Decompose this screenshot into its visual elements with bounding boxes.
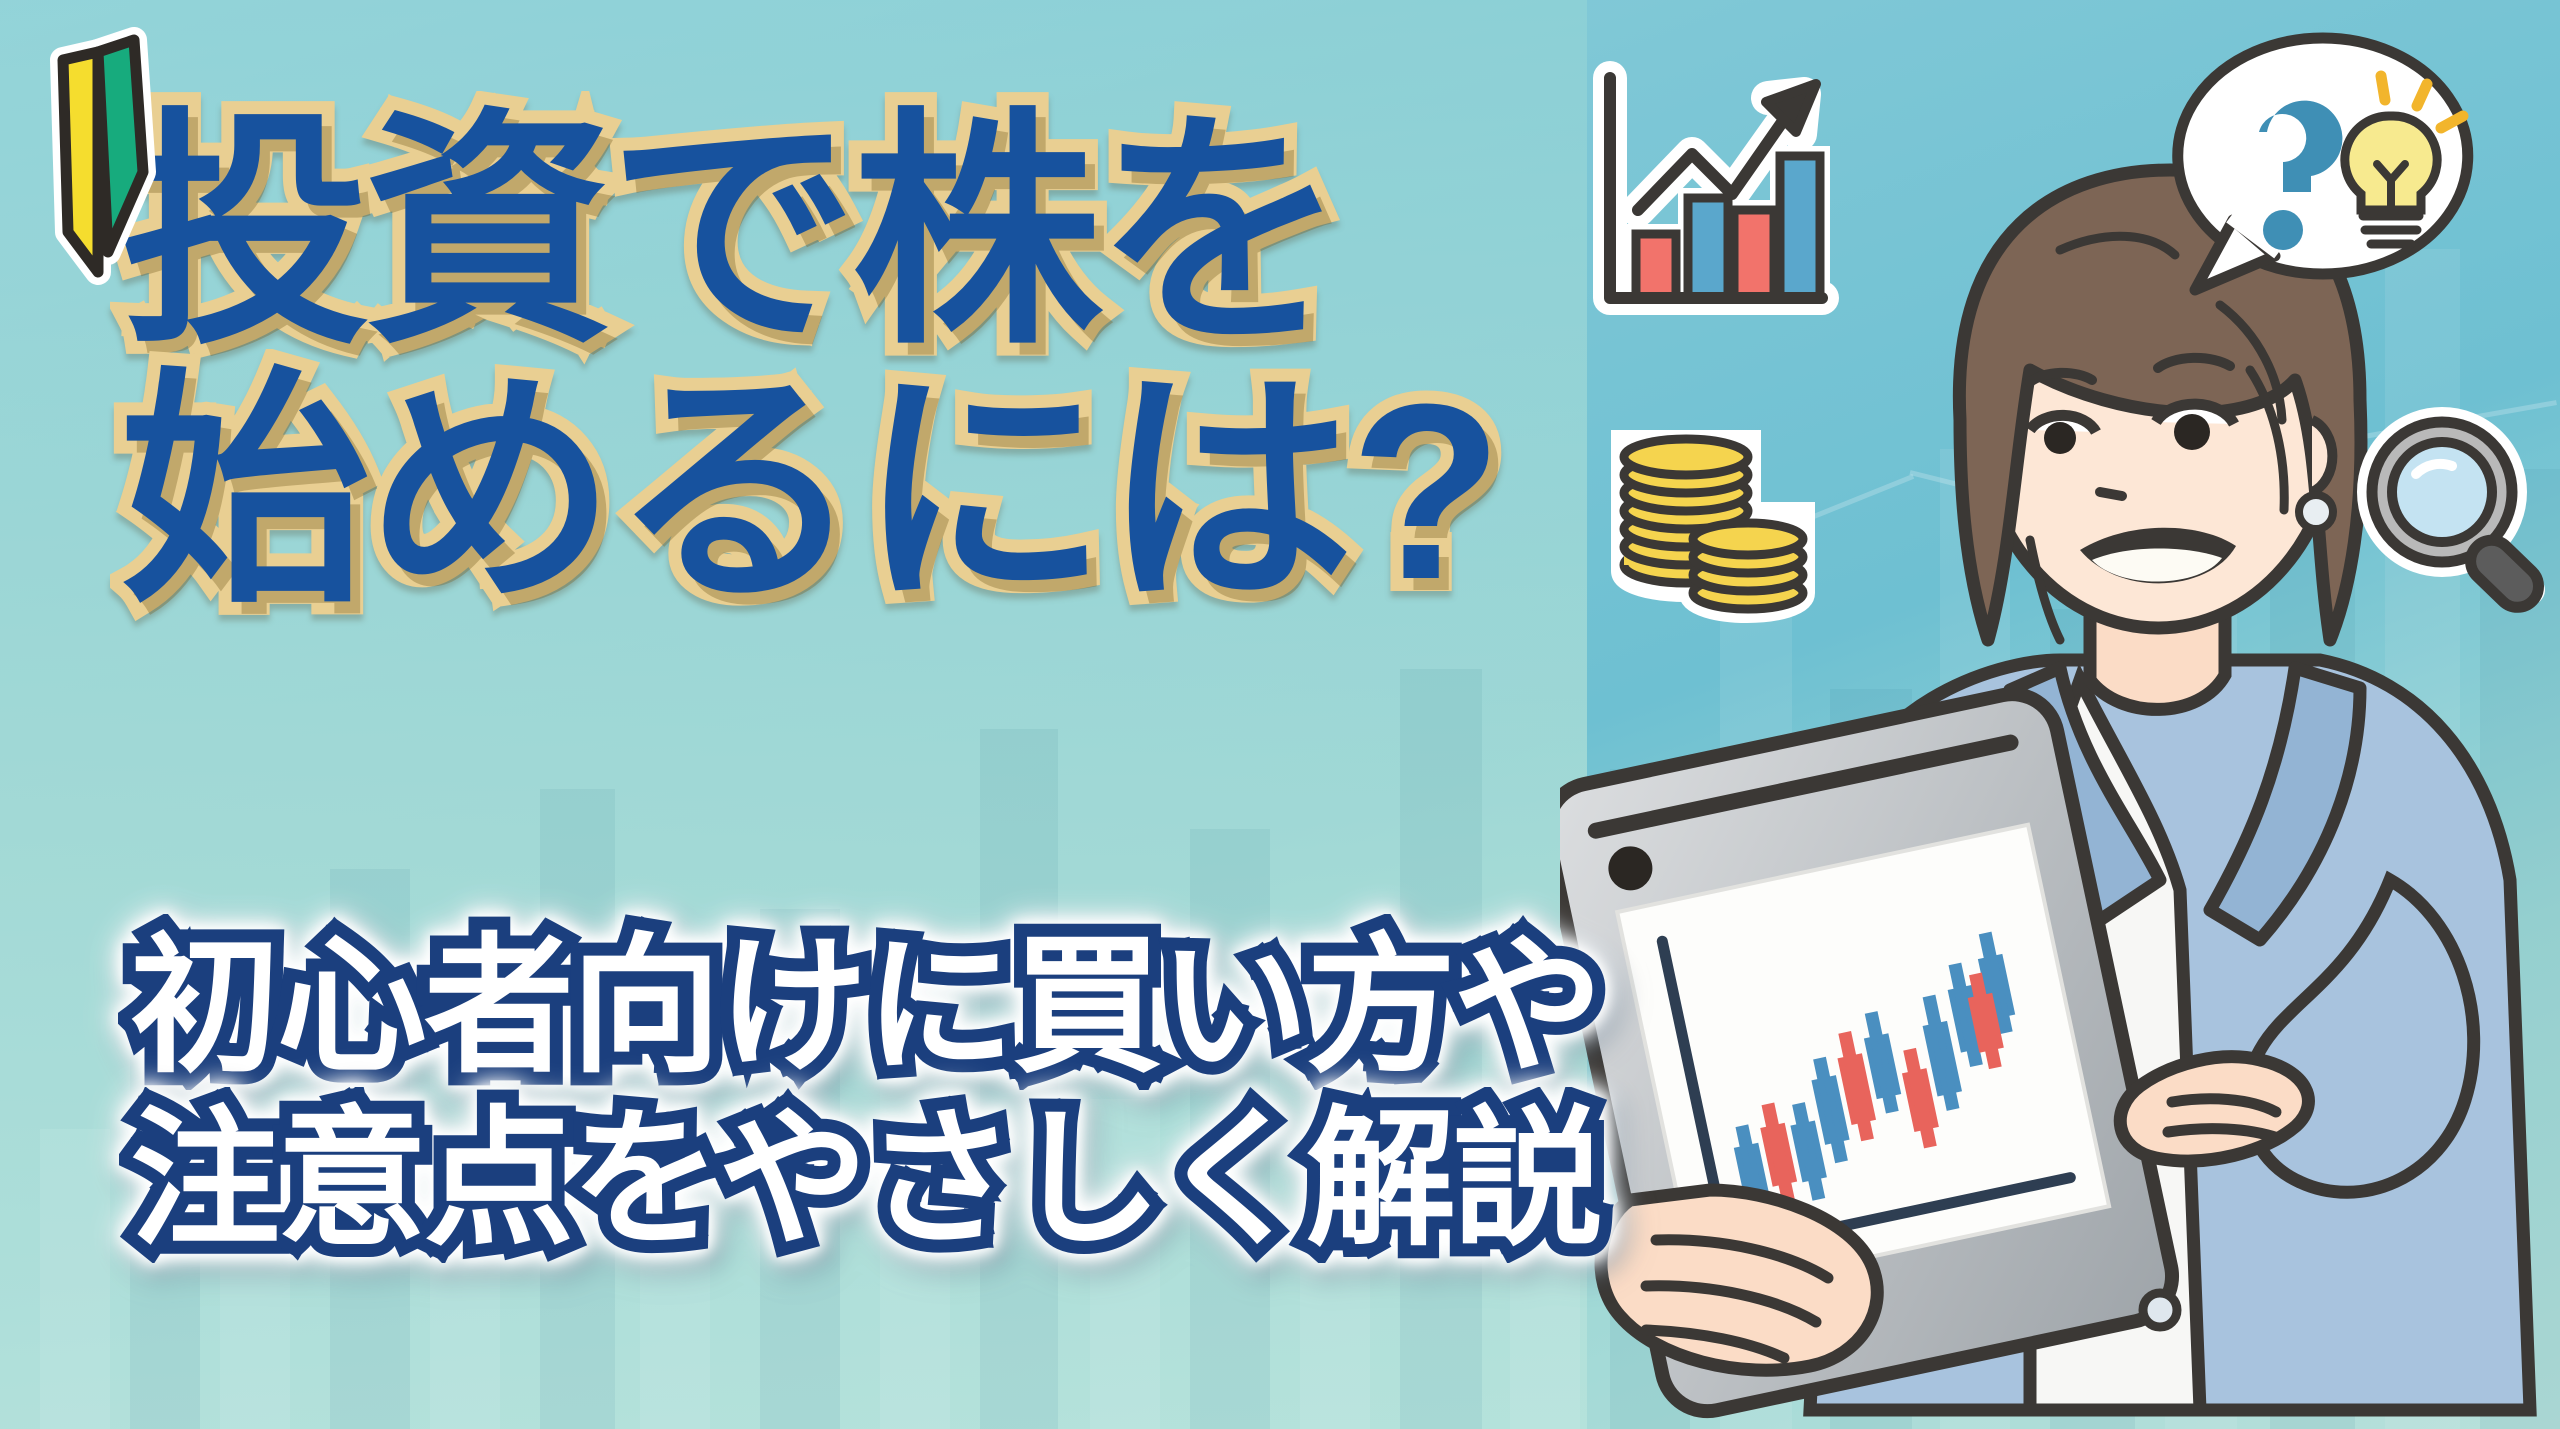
main-title: 投資で株を 始めるには?: [120, 110, 1499, 614]
magnifying-glass-icon: [2350, 400, 2560, 640]
subtitle-line-1: 初心者向けに買い方や: [130, 930, 1600, 1083]
sprout-badge-icon: [38, 22, 228, 327]
bar-chart-up-arrow-icon: [1580, 58, 1840, 333]
title-line-1: 投資で株を: [120, 110, 1499, 355]
question-lightbulb-bubble-icon: [2155, 20, 2485, 325]
subtitle: 初心者向けに買い方や 注意点をやさしく解説: [130, 930, 1600, 1256]
title-line-2: 始めるには?: [120, 369, 1499, 614]
subtitle-line-2: 注意点をやさしく解説: [130, 1103, 1600, 1256]
banner-canvas: ✦ ✦ 投資で株を 始めるには? 初心者向けに買い方や 注意点をやさしく解説: [0, 0, 2560, 1429]
coin-stack-icon: [1600, 415, 1820, 640]
